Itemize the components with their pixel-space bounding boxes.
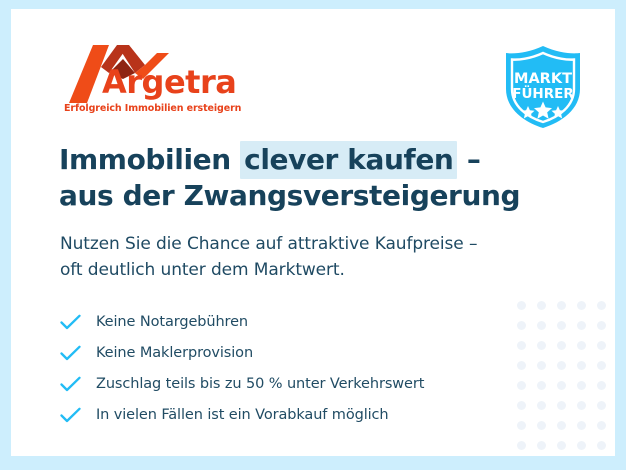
check-icon bbox=[60, 375, 84, 393]
argetra-logo[interactable]: Argetra Erfolgreich Immobilien ersteiger… bbox=[57, 45, 257, 121]
dot bbox=[537, 421, 546, 430]
dot bbox=[537, 361, 546, 370]
dot bbox=[597, 361, 606, 370]
headline-line-2: aus der Zwangsversteigerung bbox=[59, 178, 529, 214]
dot bbox=[577, 441, 586, 450]
dot bbox=[537, 401, 546, 410]
dot bbox=[537, 321, 546, 330]
check-icon bbox=[60, 313, 84, 331]
dot bbox=[577, 361, 586, 370]
dot bbox=[597, 401, 606, 410]
dot bbox=[597, 381, 606, 390]
dot bbox=[597, 441, 606, 450]
dot bbox=[557, 341, 566, 350]
dot bbox=[537, 341, 546, 350]
dot bbox=[577, 401, 586, 410]
dot bbox=[557, 361, 566, 370]
list-item: Keine Maklerprovision bbox=[60, 337, 530, 368]
dot bbox=[557, 441, 566, 450]
list-item-label: Keine Notargebühren bbox=[96, 314, 248, 330]
subtitle-line-1: Nutzen Sie die Chance auf attraktive Kau… bbox=[60, 231, 540, 257]
list-item-label: Zuschlag teils bis zu 50 % unter Verkehr… bbox=[96, 376, 424, 392]
dot bbox=[577, 421, 586, 430]
dot bbox=[557, 321, 566, 330]
dot bbox=[597, 341, 606, 350]
headline-part-before: Immobilien bbox=[59, 143, 240, 176]
dot bbox=[577, 321, 586, 330]
headline-highlight: clever kaufen bbox=[240, 141, 457, 179]
dot bbox=[597, 321, 606, 330]
dot bbox=[577, 341, 586, 350]
benefits-list: Keine Notargebühren Keine Maklerprovisio… bbox=[60, 306, 530, 430]
list-item: Keine Notargebühren bbox=[60, 306, 530, 337]
list-item: Zuschlag teils bis zu 50 % unter Verkehr… bbox=[60, 368, 530, 399]
banner-canvas: Argetra Erfolgreich Immobilien ersteiger… bbox=[11, 9, 615, 456]
headline-line-1: Immobilien clever kaufen – bbox=[59, 142, 529, 178]
page-subtitle: Nutzen Sie die Chance auf attraktive Kau… bbox=[60, 231, 540, 284]
badge-line-2: FÜHRER bbox=[512, 84, 574, 102]
dot bbox=[517, 441, 526, 450]
dot bbox=[557, 381, 566, 390]
dot bbox=[577, 301, 586, 310]
dot bbox=[557, 401, 566, 410]
dot bbox=[597, 421, 606, 430]
dot bbox=[597, 301, 606, 310]
dot bbox=[537, 301, 546, 310]
dot bbox=[537, 381, 546, 390]
check-icon bbox=[60, 344, 84, 362]
list-item-label: In vielen Fällen ist ein Vorabkauf mögli… bbox=[96, 407, 389, 423]
badge-line-1: MARKT bbox=[514, 71, 572, 87]
dot bbox=[557, 421, 566, 430]
dot bbox=[537, 441, 546, 450]
list-item: In vielen Fällen ist ein Vorabkauf mögli… bbox=[60, 399, 530, 430]
logo-tagline: Erfolgreich Immobilien ersteigern bbox=[64, 103, 241, 114]
list-item-label: Keine Maklerprovision bbox=[96, 345, 253, 361]
dot bbox=[557, 301, 566, 310]
market-leader-badge: MARKT FÜHRER bbox=[500, 43, 586, 131]
promo-banner: Argetra Erfolgreich Immobilien ersteiger… bbox=[0, 0, 626, 470]
headline-part-after: – bbox=[457, 143, 480, 176]
subtitle-line-2: oft deutlich unter dem Marktwert. bbox=[60, 257, 540, 283]
page-title: Immobilien clever kaufen – aus der Zwang… bbox=[59, 142, 529, 214]
check-icon bbox=[60, 406, 84, 424]
dot bbox=[577, 381, 586, 390]
logo-wordmark: Argetra bbox=[102, 66, 236, 98]
